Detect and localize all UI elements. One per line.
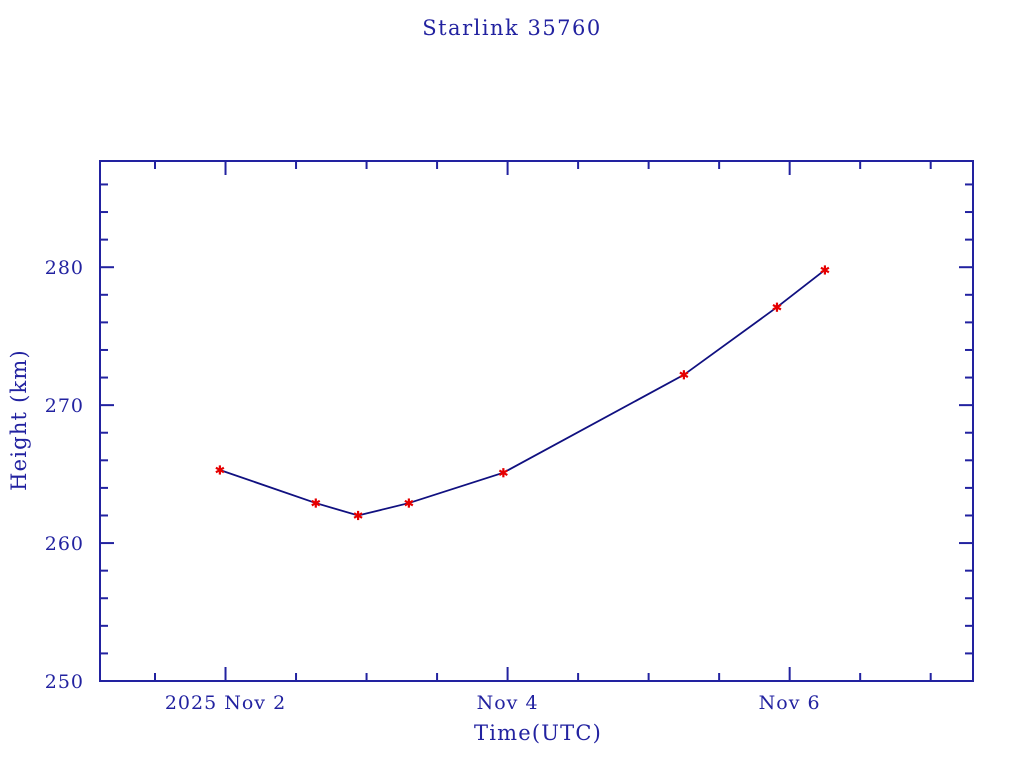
plot-canvas: 250260270280 2025 Nov 2Nov 4Nov 6 Time(U… — [0, 0, 1024, 768]
x-tick-label: Nov 6 — [759, 692, 821, 714]
axis-frame — [100, 161, 973, 681]
data-point-marker — [216, 465, 224, 474]
x-tick-label: Nov 4 — [477, 692, 539, 714]
y-tick-label: 270 — [45, 395, 84, 417]
x-axis-tick-labels: 2025 Nov 2Nov 4Nov 6 — [165, 692, 821, 714]
y-tick-label: 280 — [45, 257, 84, 279]
y-axis-title: Height (km) — [7, 349, 31, 491]
x-axis-ticks — [155, 161, 931, 681]
x-axis-title: Time(UTC) — [474, 721, 602, 745]
y-tick-label: 250 — [45, 671, 84, 693]
x-tick-label: 2025 Nov 2 — [165, 692, 286, 714]
data-series-markers — [216, 265, 829, 520]
y-axis-tick-labels: 250260270280 — [45, 257, 84, 693]
data-point-marker — [680, 370, 688, 379]
data-series-line — [220, 270, 825, 516]
y-axis-ticks — [100, 184, 973, 681]
y-tick-label: 260 — [45, 533, 84, 555]
chart-container: Starlink 35760 250260270280 2025 Nov 2No… — [0, 0, 1024, 768]
